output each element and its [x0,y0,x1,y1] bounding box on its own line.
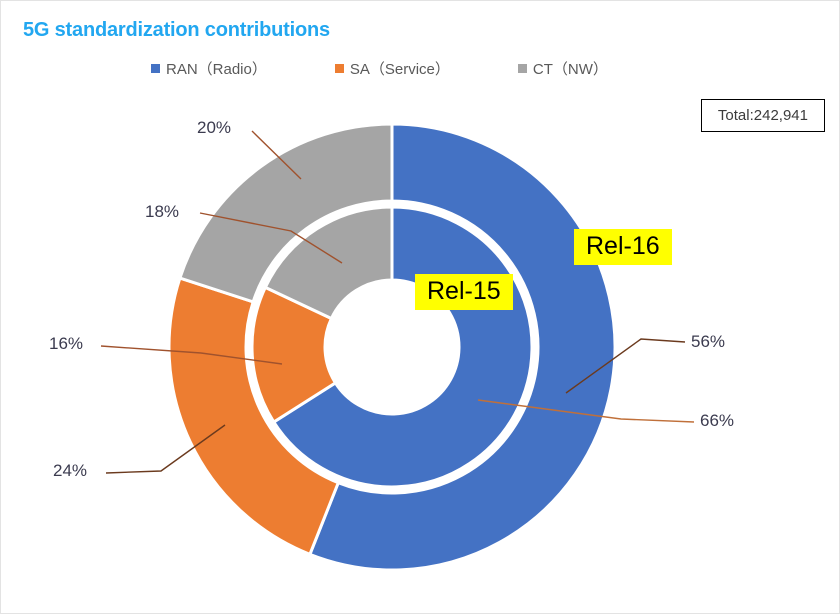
data-label-inner-sa: 16% [49,334,83,354]
callout-rel-16: Rel-16 [574,229,672,265]
chart-container: 5G standardization contributions RAN（Rad… [0,0,840,614]
data-label-outer-ran: 56% [691,332,725,352]
data-label-outer-sa: 24% [53,461,87,481]
data-label-outer-ct: 20% [197,118,231,138]
data-label-inner-ct: 18% [145,202,179,222]
outer-ring-rel16 [169,124,615,570]
callout-rel-15: Rel-15 [415,274,513,310]
inner-ring-rel15 [252,207,532,487]
data-label-inner-ran: 66% [700,411,734,431]
